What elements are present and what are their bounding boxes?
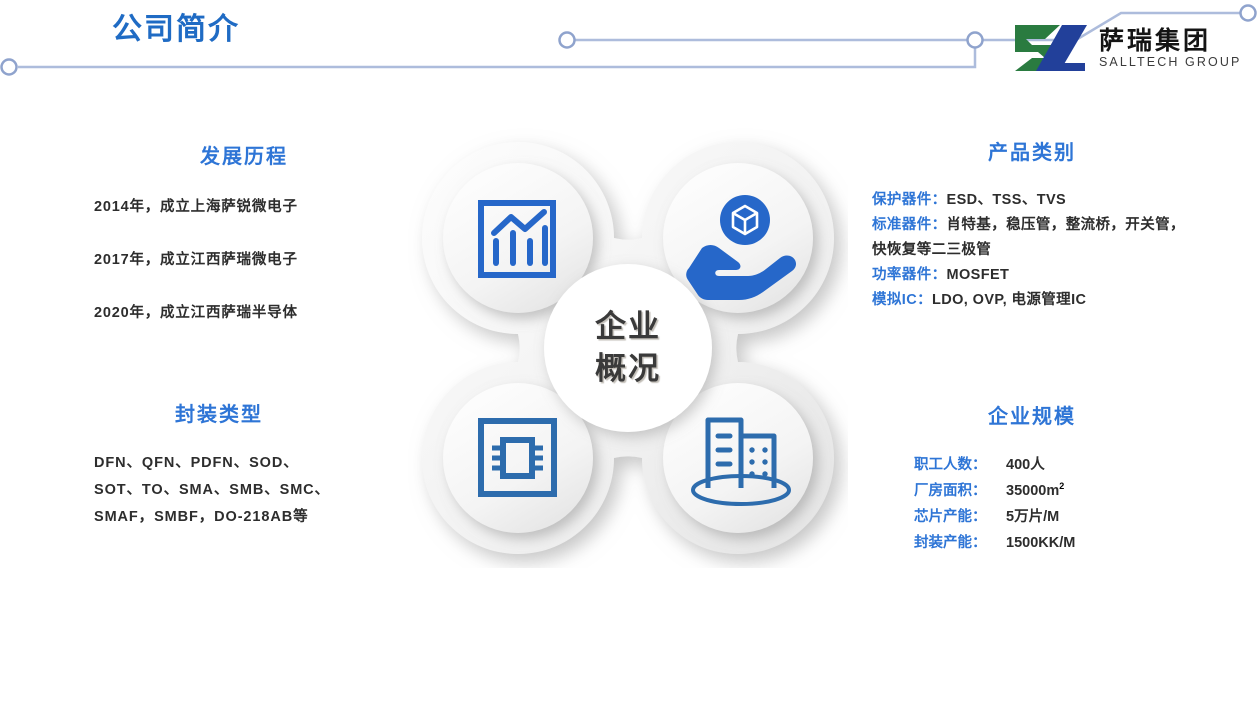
panel-history-title: 发展历程 xyxy=(94,144,394,170)
logo-name-cn: 萨瑞集团 xyxy=(1099,27,1241,55)
product-row: 保护器件：ESD、TSS、TVS xyxy=(872,188,1192,213)
panel-scale-title: 企业规模 xyxy=(872,404,1192,430)
page-title: 公司简介 xyxy=(112,12,240,48)
product-label: 功率器件： xyxy=(872,267,947,283)
panel-package-types: 封装类型 DFN、QFN、PDFN、SOD、SOT、TO、SMA、SMB、SMC… xyxy=(94,402,344,531)
scale-value: 5万片/M xyxy=(1006,509,1059,525)
history-item: 2020年，成立江西萨瑞半导体 xyxy=(94,302,394,324)
center-circle xyxy=(544,264,712,432)
enterprise-overview-diagram: 企业 概况 xyxy=(408,128,848,568)
history-item: 2017年，成立江西萨瑞微电子 xyxy=(94,249,394,271)
panel-history: 发展历程 2014年，成立上海萨锐微电子 2017年，成立江西萨瑞微电子 202… xyxy=(94,144,394,355)
product-label: 标准器件： xyxy=(872,217,947,233)
scale-label: 厂房面积： xyxy=(914,478,1006,504)
slide-root: 公司简介 萨瑞集团 SALLTECH GROUP 发展历程 2014年，成立上海… xyxy=(0,0,1257,704)
panel-enterprise-scale: 企业规模 职工人数：400人 厂房面积：35000m2 芯片产能：5万片/M 封… xyxy=(872,404,1192,556)
scale-value: 400人 xyxy=(1006,457,1045,473)
logo-name-en: SALLTECH GROUP xyxy=(1099,55,1241,70)
history-list: 2014年，成立上海萨锐微电子 2017年，成立江西萨瑞微电子 2020年，成立… xyxy=(94,196,394,324)
scale-row: 封装产能：1500KK/M xyxy=(914,530,1192,556)
product-value: LDO, OVP, 电源管理IC xyxy=(932,292,1086,308)
panel-package-title: 封装类型 xyxy=(94,402,344,428)
history-item: 2014年，成立上海萨锐微电子 xyxy=(94,196,394,218)
product-value: MOSFET xyxy=(947,267,1010,283)
scale-label: 芯片产能： xyxy=(914,504,1006,530)
diagram-svg xyxy=(408,128,848,568)
product-label: 模拟IC： xyxy=(872,292,932,308)
scale-value: 1500KK/M xyxy=(1006,535,1075,551)
header-node-right xyxy=(968,33,983,48)
package-type-text: DFN、QFN、PDFN、SOD、SOT、TO、SMA、SMB、SMC、SMAF… xyxy=(94,450,344,531)
product-label: 保护器件： xyxy=(872,192,947,208)
logo-wordmark: 萨瑞集团 SALLTECH GROUP xyxy=(1099,27,1241,70)
header-node-left xyxy=(2,60,17,75)
scale-label: 职工人数： xyxy=(914,452,1006,478)
header-node-far-right xyxy=(1241,6,1256,21)
panel-product-categories: 产品类别 保护器件：ESD、TSS、TVS 标准器件：肖特基，稳压管，整流桥，开… xyxy=(872,140,1192,313)
company-logo: 萨瑞集团 SALLTECH GROUP xyxy=(1012,22,1241,74)
scale-row: 职工人数：400人 xyxy=(914,452,1192,478)
scale-value: 35000m xyxy=(1006,483,1059,499)
scale-row: 厂房面积：35000m2 xyxy=(914,478,1192,504)
scale-value-sup: 2 xyxy=(1059,481,1064,491)
product-row: 功率器件：MOSFET xyxy=(872,263,1192,288)
product-row: 标准器件：肖特基，稳压管，整流桥，开关管，快恢复等二三极管 xyxy=(872,213,1192,263)
salltech-logo-mark-icon xyxy=(1012,22,1090,74)
product-value: ESD、TSS、TVS xyxy=(947,192,1067,208)
scale-label: 封装产能： xyxy=(914,530,1006,556)
product-list: 保护器件：ESD、TSS、TVS 标准器件：肖特基，稳压管，整流桥，开关管，快恢… xyxy=(872,188,1192,313)
product-row: 模拟IC：LDO, OVP, 电源管理IC xyxy=(872,288,1192,313)
panel-product-title: 产品类别 xyxy=(872,140,1192,166)
scale-row: 芯片产能：5万片/M xyxy=(914,504,1192,530)
header-node-mid xyxy=(560,33,575,48)
scale-list: 职工人数：400人 厂房面积：35000m2 芯片产能：5万片/M 封装产能：1… xyxy=(872,452,1192,556)
